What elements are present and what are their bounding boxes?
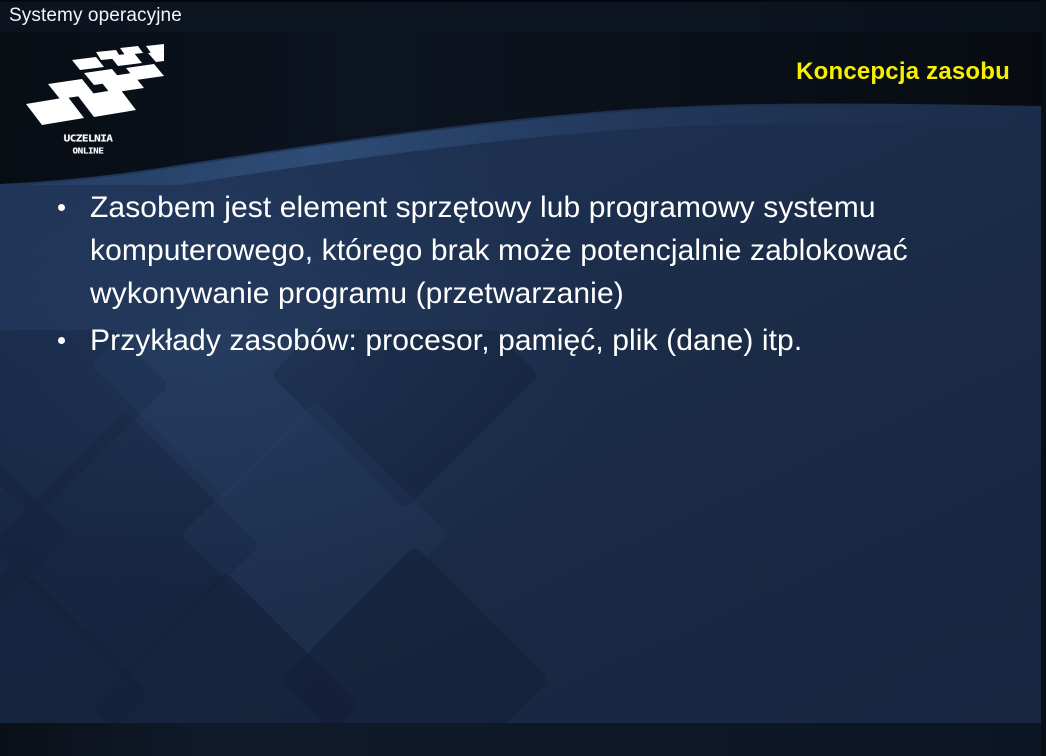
logo-text-primary: UCZELNIA bbox=[18, 132, 158, 143]
logo-text-secondary: ONLINE bbox=[18, 147, 158, 156]
slide-title: Koncepcja zasobu bbox=[0, 58, 1010, 86]
bottom-bar bbox=[0, 723, 1046, 756]
right-edge bbox=[1041, 0, 1046, 756]
presentation-slide: Systemy operacyjne bbox=[0, 0, 1046, 756]
slide-content: Zasobem jest element sprzętowy lub progr… bbox=[44, 186, 974, 366]
logo-tiles-icon bbox=[12, 42, 164, 134]
bullet-text: Przykłady zasobów: procesor, pamięć, pli… bbox=[90, 319, 974, 362]
top-edge bbox=[0, 0, 1046, 2]
bullet-item: Przykłady zasobów: procesor, pamięć, pli… bbox=[44, 319, 974, 362]
bullet-text: Zasobem jest element sprzętowy lub progr… bbox=[90, 186, 974, 315]
title-bar: Systemy operacyjne bbox=[0, 0, 1046, 32]
window-title: Systemy operacyjne bbox=[9, 3, 182, 29]
bullet-item: Zasobem jest element sprzętowy lub progr… bbox=[44, 186, 974, 315]
bullet-marker-icon bbox=[44, 186, 90, 211]
bullet-marker-icon bbox=[44, 319, 90, 344]
